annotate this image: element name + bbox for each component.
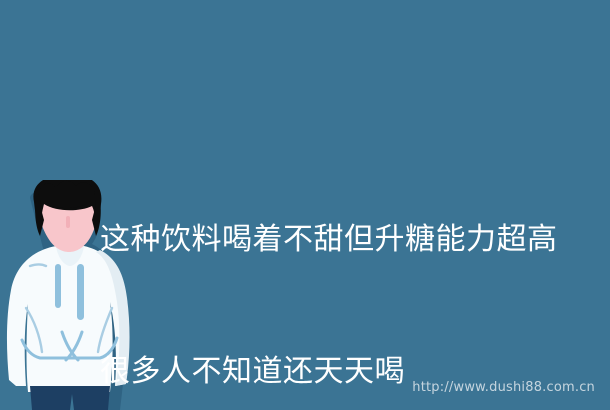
pants [30,386,110,410]
headline-line-1: 这种饮料喝着不甜但升糖能力超高 [100,218,600,262]
watermark-url: http://www.dushi88.com.cn [412,380,595,395]
headline: 这种饮料喝着不甜但升糖能力超高 很多人不知道还天天喝 [100,130,600,410]
poster-canvas: 这种饮料喝着不甜但升糖能力超高 很多人不知道还天天喝 http://www.du… [0,0,610,410]
